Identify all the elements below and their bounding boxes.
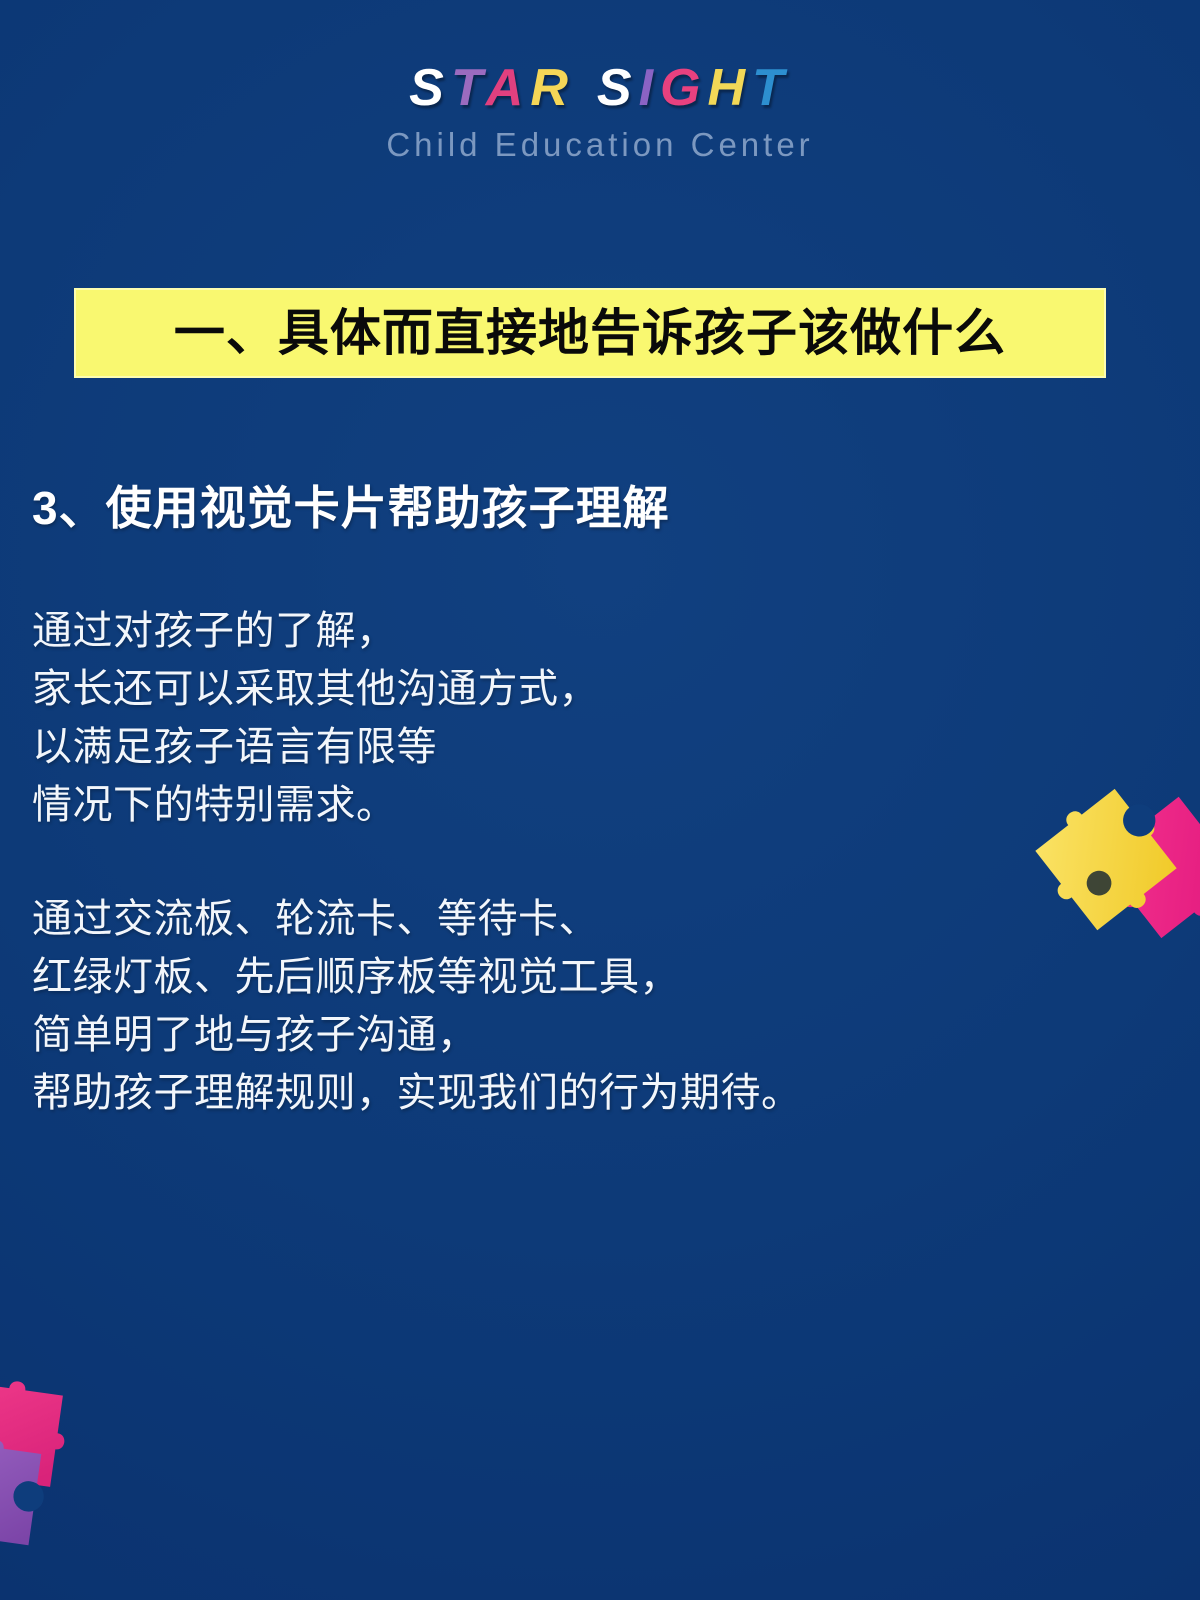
brand-letter-s1: S (409, 59, 451, 117)
body-line: 情况下的特别需求。 (32, 776, 599, 834)
brand-header: STARSIGHT Child Education Center (0, 62, 1200, 161)
body-line: 帮助孩子理解规则，实现我们的行为期待。 (32, 1064, 802, 1122)
brand-letter-a: A (486, 59, 531, 117)
poster-canvas: STARSIGHT Child Education Center 一、具体而直接… (0, 0, 1200, 1600)
body-line: 简单明了地与孩子沟通， (32, 1006, 802, 1064)
body-paragraph-1: 通过对孩子的了解， 家长还可以采取其他沟通方式， 以满足孩子语言有限等 情况下的… (32, 602, 599, 834)
brand-subtitle: Child Education Center (0, 128, 1200, 161)
body-line: 红绿灯板、先后顺序板等视觉工具， (32, 948, 802, 1006)
section-banner: 一、具体而直接地告诉孩子该做什么 (74, 288, 1106, 378)
puzzle-piece-pink-purple-icon (0, 1366, 166, 1600)
brand-letter-r: R (530, 59, 575, 117)
brand-title: STARSIGHT (0, 62, 1200, 114)
body-paragraph-2: 通过交流板、轮流卡、等待卡、 红绿灯板、先后顺序板等视觉工具， 简单明了地与孩子… (32, 890, 802, 1122)
brand-letter-h: H (707, 59, 752, 117)
section-banner-text: 一、具体而直接地告诉孩子该做什么 (174, 308, 1006, 358)
brand-letter-s2: S (597, 59, 639, 117)
body-line: 家长还可以采取其他沟通方式， (32, 660, 599, 718)
body-line: 以满足孩子语言有限等 (32, 718, 599, 776)
body-line: 通过交流板、轮流卡、等待卡、 (32, 890, 802, 948)
puzzle-piece-yellow-pink-icon (1017, 732, 1200, 999)
page-title: 3、使用视觉卡片帮助孩子理解 (32, 482, 670, 535)
brand-letter-g: G (660, 59, 707, 117)
brand-letter-i: I (639, 59, 660, 117)
brand-letter-t1: T (451, 59, 486, 117)
brand-letter-t2: T (752, 59, 791, 117)
body-line: 通过对孩子的了解， (32, 602, 599, 660)
